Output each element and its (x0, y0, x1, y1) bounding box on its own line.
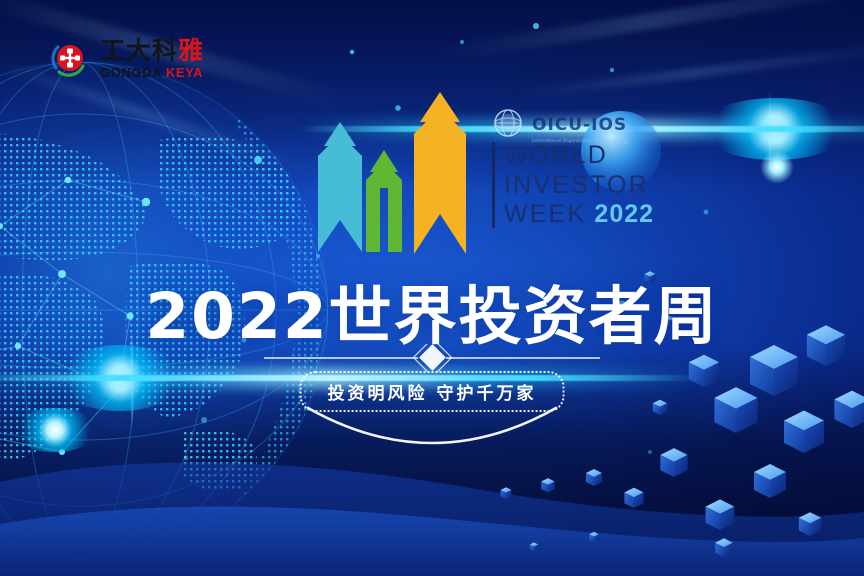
wiw-investor-label: INVESTOR (504, 172, 649, 199)
world-investor-week-logo: OICU-IOSCO International Organization of… (296, 84, 636, 264)
wiw-world-label: WORLD (504, 142, 608, 169)
wiw-line-1: WORLD (504, 142, 654, 169)
wiw-rule (492, 142, 495, 228)
smile-arc (302, 402, 562, 462)
wiw-wordmark: WORLD INVESTOR WEEK 2022 (492, 142, 654, 228)
brand-name-cn-accent: 雅 (178, 36, 204, 65)
diamond-divider (0, 344, 864, 372)
gongda-keya-mark-icon (48, 36, 92, 80)
poster-canvas: 工大科雅 GONGDA KEYA OICU-IOSCO Internationa… (0, 0, 864, 576)
brand-logo: 工大科雅 GONGDA KEYA (48, 36, 204, 80)
brand-text: 工大科雅 GONGDA KEYA (100, 38, 204, 79)
pencil-marks-icon (296, 84, 486, 262)
brand-name-cn: 工大科雅 (100, 38, 204, 63)
wiw-year-label: 2022 (594, 201, 654, 228)
brand-name-en-head: GONGDA (100, 65, 162, 80)
brand-name-en-accent: KEYA (166, 65, 203, 80)
wiw-line-3: WEEK 2022 (504, 201, 654, 228)
wiw-lines: WORLD INVESTOR WEEK 2022 (504, 142, 654, 228)
wiw-week-label: WEEK (504, 201, 586, 228)
wiw-line-2: INVESTOR (504, 172, 654, 199)
svg-text:OICU-IOSCO: OICU-IOSCO (532, 115, 628, 135)
brand-name-en: GONGDA KEYA (100, 66, 204, 79)
brand-name-cn-head: 工大科 (100, 36, 178, 65)
